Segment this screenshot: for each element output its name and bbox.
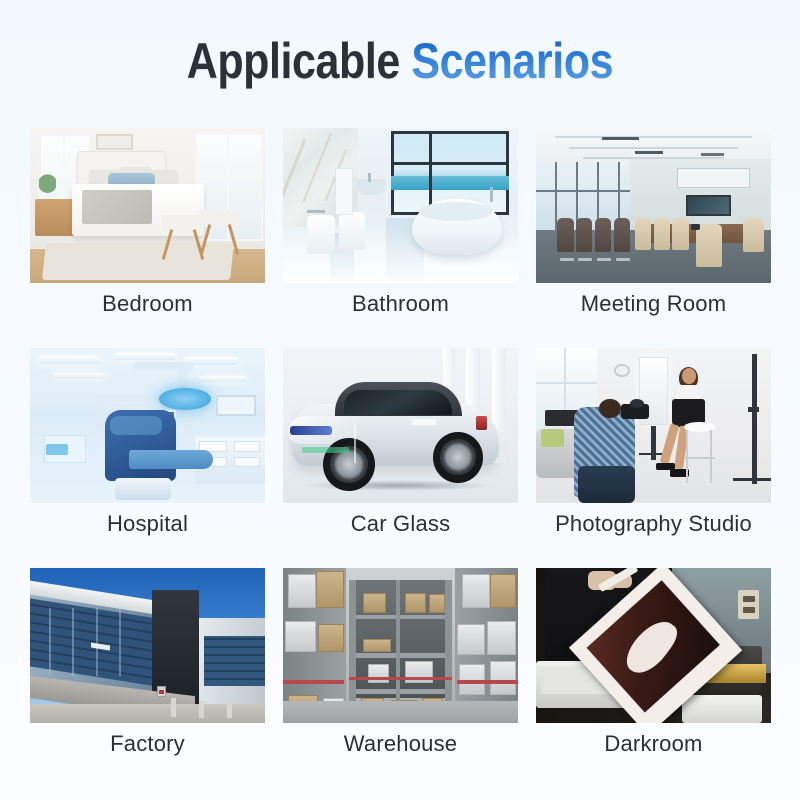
scenario-label-bedroom: Bedroom: [30, 292, 265, 317]
scenario-card-car-glass[interactable]: Car Glass: [283, 348, 518, 568]
scenario-label-darkroom: Darkroom: [536, 732, 771, 757]
page-title-primary: Applicable: [187, 33, 400, 89]
scenario-image-darkroom: [536, 568, 771, 723]
scenario-image-bathroom: [283, 128, 518, 283]
scenario-card-factory[interactable]: Factory: [30, 568, 265, 788]
scenario-card-photography-studio[interactable]: Photography Studio: [536, 348, 771, 568]
scenario-image-car-glass: [283, 348, 518, 503]
applicable-scenarios-page: Applicable Scenarios: [0, 0, 800, 800]
scenario-grid: Bedroom: [30, 128, 770, 788]
scenario-label-factory: Factory: [30, 732, 265, 757]
scenario-image-photography-studio: [536, 348, 771, 503]
scenario-card-meeting-room[interactable]: Meeting Room: [536, 128, 771, 348]
scenario-image-hospital: [30, 348, 265, 503]
scenario-label-meeting-room: Meeting Room: [536, 292, 771, 317]
scenario-label-warehouse: Warehouse: [283, 732, 518, 757]
scenario-card-warehouse[interactable]: Warehouse: [283, 568, 518, 788]
scenario-card-darkroom[interactable]: Darkroom: [536, 568, 771, 788]
scenario-card-bathroom[interactable]: Bathroom: [283, 128, 518, 348]
scenario-label-bathroom: Bathroom: [283, 292, 518, 317]
scenario-card-hospital[interactable]: Hospital: [30, 348, 265, 568]
scenario-image-bedroom: [30, 128, 265, 283]
page-title-accent: Scenarios: [411, 33, 613, 89]
page-title: Applicable Scenarios: [0, 36, 800, 86]
scenario-label-photography-studio: Photography Studio: [536, 512, 771, 537]
scenario-image-warehouse: [283, 568, 518, 723]
scenario-image-factory: [30, 568, 265, 723]
scenario-label-car-glass: Car Glass: [283, 512, 518, 537]
scenario-image-meeting-room: [536, 128, 771, 283]
scenario-card-bedroom[interactable]: Bedroom: [30, 128, 265, 348]
scenario-label-hospital: Hospital: [30, 512, 265, 537]
